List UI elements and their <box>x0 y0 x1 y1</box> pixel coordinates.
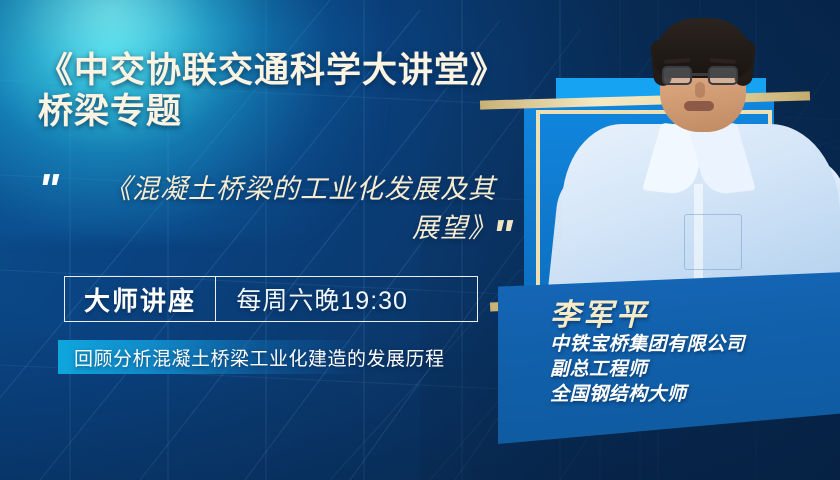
poster-title: 《中交协联交通科学大讲堂》 桥梁专题 <box>38 50 598 133</box>
speaker-name: 李军平 <box>550 300 840 332</box>
lecture-series-label: 大师讲座 <box>65 281 215 318</box>
speaker-credential-honor: 全国钢结构大师 <box>550 382 840 407</box>
lecture-poster: 李军平 中铁宝桥集团有限公司 副总工程师 全国钢结构大师 《中交协联交通科学大讲… <box>0 0 840 480</box>
quote-open-mark-icon: " <box>38 168 57 212</box>
glasses-lens-right-icon <box>708 66 738 85</box>
glasses-bridge-icon <box>692 73 708 76</box>
quote-close-mark-icon: " <box>492 214 511 258</box>
topic-title: 《混凝土桥梁的工业化发展及其展望》 <box>86 170 496 248</box>
lecture-schedule-text: 每周六晚19:30 <box>216 281 477 317</box>
shirt-pocket <box>684 214 742 270</box>
speaker-mouth <box>684 101 714 111</box>
title-line-2: 桥梁专题 <box>38 91 598 132</box>
speaker-credential-company: 中铁宝桥集团有限公司 <box>550 332 840 357</box>
tagline-bar: 回顾分析混凝土桥梁工业化建造的发展历程 <box>58 340 488 374</box>
topic-quote: " 《混凝土桥梁的工业化发展及其展望》 " <box>36 166 536 266</box>
lecture-schedule-box: 大师讲座 每周六晚19:30 <box>64 276 478 322</box>
title-line-1: 《中交协联交通科学大讲堂》 <box>38 50 598 91</box>
speaker-info-content: 李军平 中铁宝桥集团有限公司 副总工程师 全国钢结构大师 <box>550 300 840 407</box>
tagline-text: 回顾分析混凝土桥梁工业化建造的发展历程 <box>58 344 445 371</box>
speaker-credential-title: 副总工程师 <box>550 357 840 382</box>
speaker-nose <box>695 82 705 98</box>
glasses-lens-left-icon <box>662 66 692 85</box>
